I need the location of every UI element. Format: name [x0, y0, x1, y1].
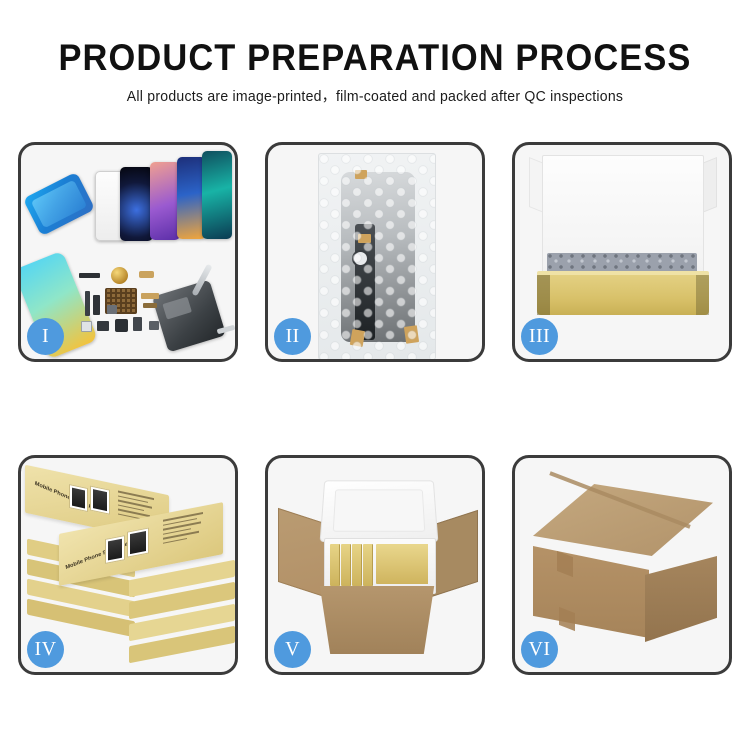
- bubble-wrap-bag: [318, 153, 436, 360]
- part-flex-cable-2-icon: [93, 295, 100, 315]
- process-step-6[interactable]: VI: [512, 455, 732, 675]
- part-gold-flex-2-icon: [143, 303, 157, 308]
- process-step-5[interactable]: V: [265, 455, 485, 675]
- box-window-a1: [69, 484, 88, 512]
- carton-side-face: [645, 556, 717, 642]
- part-gold-flex-icon: [141, 293, 159, 299]
- process-step-grid: I II: [18, 142, 732, 678]
- yellow-boxes-inside: [330, 544, 428, 586]
- carton-front-face: [533, 546, 649, 638]
- step-badge-4: IV: [27, 631, 64, 668]
- part-speaker-icon: [97, 321, 109, 331]
- part-sim-tray-icon: [81, 321, 92, 332]
- step-badge-1: I: [27, 318, 64, 355]
- part-gold-connector-icon: [139, 271, 154, 278]
- part-bracket-icon: [149, 321, 159, 330]
- box-window-b1: [105, 535, 125, 564]
- carton-top-face: [533, 484, 713, 556]
- kraft-box-body: [537, 275, 709, 315]
- phone-blue-angled-icon: [23, 172, 96, 237]
- part-button-icon: [133, 317, 142, 331]
- phone-teal-display-icon: [202, 151, 232, 239]
- page-title: PRODUCT PREPARATION PROCESS: [26, 36, 724, 80]
- part-flex-cable-icon: [85, 291, 90, 316]
- bubble-texture: [319, 154, 435, 359]
- process-step-4[interactable]: Mobile Phone Spare Parts Mobile Phone Sp…: [18, 455, 238, 675]
- process-infographic: PRODUCT PREPARATION PROCESS All products…: [0, 0, 750, 750]
- part-small-chip-icon: [107, 305, 117, 314]
- box-edge-right: [696, 275, 709, 315]
- box-window-a2: [90, 486, 110, 515]
- phone-dark-display-icon: [120, 167, 153, 241]
- carton-body: [312, 586, 442, 654]
- vibration-motor-icon: [111, 267, 128, 284]
- process-step-1[interactable]: I: [18, 142, 238, 362]
- box-window-b2: [127, 527, 149, 557]
- phone-back-housing-icon: [152, 279, 226, 352]
- part-camera-module-icon: [115, 319, 128, 332]
- step-badge-3: III: [521, 318, 558, 355]
- step-badge-5: V: [274, 631, 311, 668]
- box-edge-left: [537, 275, 550, 315]
- process-step-3[interactable]: III: [512, 142, 732, 362]
- page-subtitle: All products are image-printed，film-coat…: [11, 87, 739, 107]
- step-badge-6: VI: [521, 631, 558, 668]
- part-strip-icon: [79, 273, 100, 278]
- step-badge-2: II: [274, 318, 311, 355]
- box-spec-lines-b: [163, 511, 209, 547]
- styrofoam-lid: [320, 480, 439, 542]
- header: PRODUCT PREPARATION PROCESS All products…: [0, 36, 750, 107]
- phone-purple-display-icon: [150, 162, 180, 240]
- process-step-2[interactable]: II: [265, 142, 485, 362]
